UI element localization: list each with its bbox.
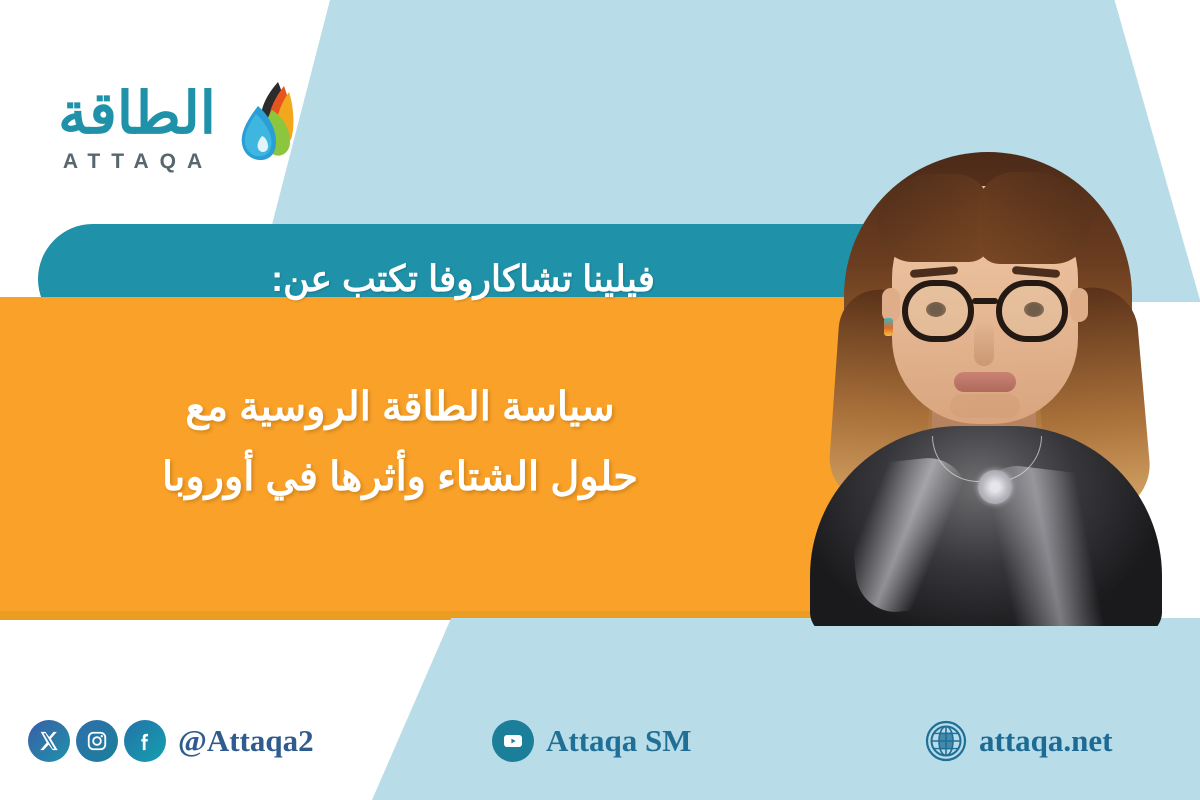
- flame-droplet-logo-icon: [232, 80, 294, 166]
- portrait-earring: [884, 318, 893, 336]
- footer-website-group[interactable]: attaqa.net: [925, 720, 1112, 762]
- portrait-chin: [950, 394, 1020, 418]
- x-twitter-icon[interactable]: [28, 720, 70, 762]
- youtube-icon[interactable]: [492, 720, 534, 762]
- footer: @Attaqa2 Attaqa SM: [0, 700, 1200, 800]
- portrait-ear-left: [882, 288, 900, 322]
- portrait-eyeglass-right: [996, 280, 1068, 342]
- footer-social-group[interactable]: @Attaqa2: [28, 720, 314, 762]
- portrait-fringe-left: [878, 174, 990, 262]
- website-label[interactable]: attaqa.net: [979, 723, 1112, 759]
- social-media-card: الطاقة ATTAQA فيلينا تشاكاروفا تكتب عن: …: [0, 0, 1200, 800]
- portrait-eyeglass-left: [902, 280, 974, 342]
- portrait-nose: [974, 322, 994, 366]
- social-handle-label[interactable]: @Attaqa2: [178, 723, 314, 759]
- headline-line-2: حلول الشتاء وأثرها في أوروبا: [20, 442, 780, 512]
- portrait-photo: [782, 140, 1180, 626]
- footer-youtube-group[interactable]: Attaqa SM: [492, 720, 692, 762]
- logo-latin-wordmark: ATTAQA: [32, 150, 244, 174]
- youtube-channel-label[interactable]: Attaqa SM: [546, 723, 692, 759]
- portrait-necklace-pendant: [978, 470, 1012, 504]
- logo-arabic-wordmark: الطاقة: [26, 78, 248, 150]
- attaqa-logo[interactable]: الطاقة ATTAQA: [26, 78, 292, 186]
- portrait-eyeglass-bridge: [972, 298, 998, 304]
- facebook-icon[interactable]: [124, 720, 166, 762]
- headline: سياسة الطاقة الروسية مع حلول الشتاء وأثر…: [20, 372, 780, 512]
- portrait-ear-right: [1070, 288, 1088, 322]
- globe-icon[interactable]: [925, 720, 967, 762]
- headline-line-1: سياسة الطاقة الروسية مع: [20, 372, 780, 442]
- instagram-icon[interactable]: [76, 720, 118, 762]
- portrait-lips: [954, 372, 1016, 392]
